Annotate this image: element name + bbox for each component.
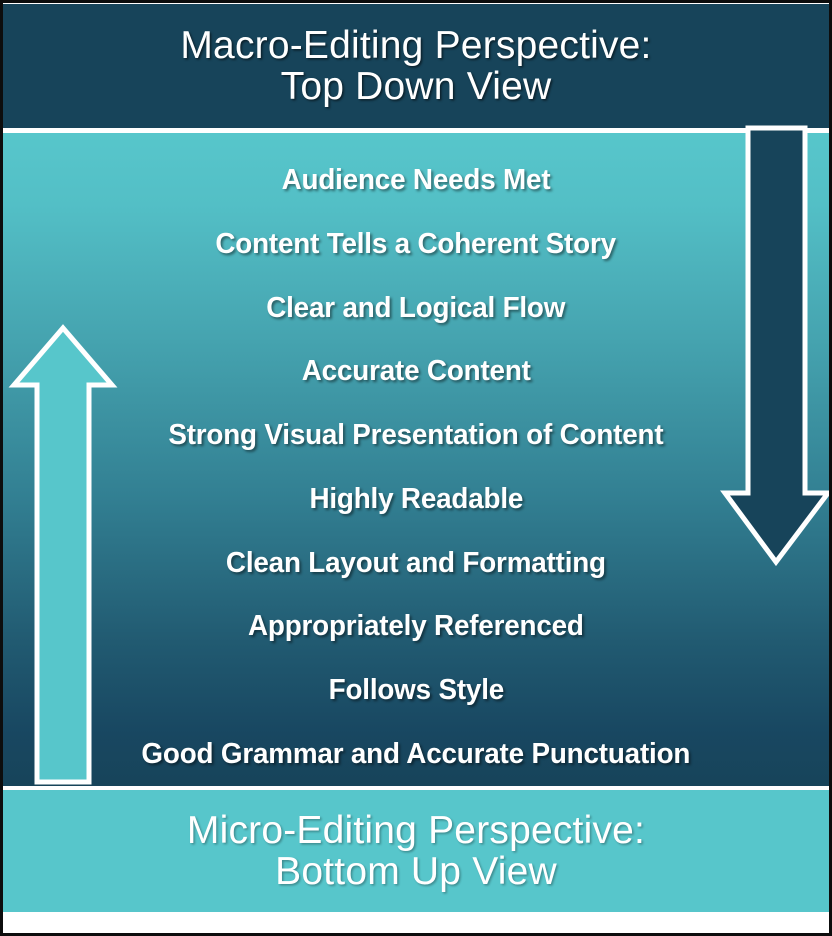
criteria-list: Audience Needs Met Content Tells a Coher… [3,133,829,786]
criteria-item: Highly Readable [309,468,523,532]
criteria-item: Good Grammar and Accurate Punctuation [142,722,691,786]
criteria-item: Strong Visual Presentation of Content [168,404,663,468]
micro-footer-line-2: Bottom Up View [275,851,557,892]
micro-editing-footer: Micro-Editing Perspective: Bottom Up Vie… [3,790,829,912]
macro-editing-header: Macro-Editing Perspective: Top Down View [3,4,829,128]
criteria-item: Content Tells a Coherent Story [216,213,617,277]
macro-header-line-1: Macro-Editing Perspective: [180,25,651,66]
criteria-item: Follows Style [328,659,503,723]
criteria-item: Audience Needs Met [282,149,551,213]
criteria-item: Accurate Content [302,340,531,404]
macro-header-line-2: Top Down View [281,66,552,107]
diagram-canvas: Macro-Editing Perspective: Top Down View… [0,0,832,936]
criteria-item: Appropriately Referenced [248,595,584,659]
criteria-item: Clear and Logical Flow [267,276,566,340]
micro-footer-line-1: Micro-Editing Perspective: [187,810,645,851]
criteria-item: Clean Layout and Formatting [226,531,606,595]
